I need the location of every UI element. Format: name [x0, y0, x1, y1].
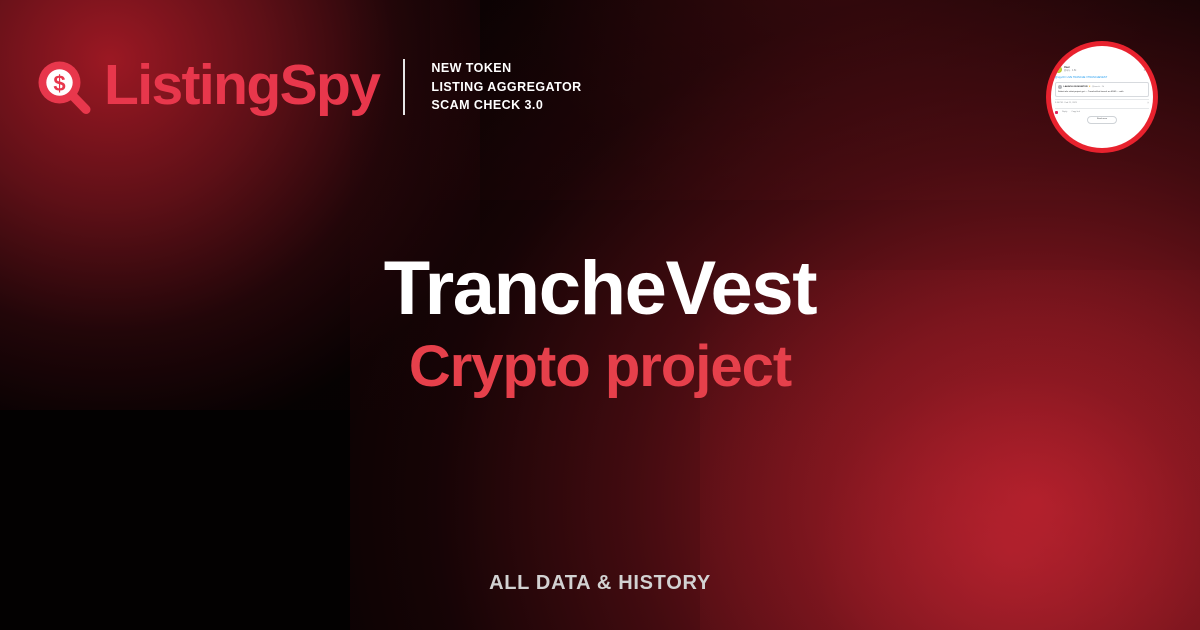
tweet-header: User @spy · 4.5k •••	[1055, 66, 1149, 73]
footer-caption: ALL DATA & HISTORY	[0, 572, 1200, 595]
tagline-line-2: LISTING AGGREGATOR	[431, 78, 581, 97]
headline-block: TrancheVest Crypto project	[0, 248, 1200, 399]
quoted-author-handle: @launch · 2h	[1092, 86, 1104, 89]
tweet-author: User @spy · 4.5k	[1064, 66, 1144, 73]
verified-badge-icon: ★	[1089, 85, 1091, 89]
tweet-timestamp: 3:30 PM · Feb 21, 2023	[1055, 102, 1077, 105]
tweet-quoted-card[interactable]: LAUNCH ON MONITOR ★ @launch · 2h Debut i…	[1055, 82, 1149, 97]
tweet-meta: 3:30 PM · Feb 21, 2023 ◷	[1055, 99, 1149, 105]
tweet-avatar-icon	[1055, 66, 1062, 73]
analytics-icon[interactable]: ◷	[1147, 102, 1149, 105]
reply-action[interactable]: Reply	[1062, 111, 1067, 114]
svg-text:$: $	[53, 71, 65, 96]
page-subtitle: Crypto project	[0, 335, 1200, 399]
quoted-author-name: LAUNCH ON MONITOR	[1064, 86, 1088, 89]
quoted-body-text: Debut info: what project get — TrancheVe…	[1058, 91, 1146, 94]
tweet-author-handle: @spy · 4.5k	[1064, 70, 1144, 73]
brand-tagline: NEW TOKEN LISTING AGGREGATOR SCAM CHECK …	[431, 59, 581, 115]
quoted-avatar-icon	[1058, 85, 1062, 89]
avatar-image: User @spy · 4.5k ••• @spy/ch/ LIVE TRANC…	[1051, 46, 1153, 148]
magnifier-dollar-icon: $	[34, 57, 94, 117]
read-more-button[interactable]: Read more	[1087, 116, 1117, 124]
tweet-link-text[interactable]: @spy/ch/ LIVE TRANCHE VTRANCHEVEST	[1055, 76, 1149, 80]
quoted-header: LAUNCH ON MONITOR ★ @launch · 2h	[1058, 85, 1146, 89]
tweet-actions: Reply Copy link	[1055, 108, 1149, 114]
copy-link-action[interactable]: Copy link	[1071, 111, 1080, 114]
more-dots-icon[interactable]: •••	[1144, 69, 1149, 71]
og-card-canvas: $ ListingSpy NEW TOKEN LISTING AGGREGATO…	[0, 0, 1200, 630]
header-divider	[403, 59, 405, 115]
brand-header: $ ListingSpy NEW TOKEN LISTING AGGREGATO…	[34, 57, 582, 117]
tweet-screenshot-thumbnail: User @spy · 4.5k ••• @spy/ch/ LIVE TRANC…	[1055, 66, 1149, 124]
like-icon[interactable]	[1055, 111, 1058, 114]
page-title: TrancheVest	[0, 248, 1200, 329]
tagline-line-1: NEW TOKEN	[431, 59, 581, 78]
avatar[interactable]: User @spy · 4.5k ••• @spy/ch/ LIVE TRANC…	[1046, 41, 1158, 153]
brand-wordmark: ListingSpy	[104, 57, 379, 114]
tagline-line-3: SCAM CHECK 3.0	[431, 96, 581, 115]
